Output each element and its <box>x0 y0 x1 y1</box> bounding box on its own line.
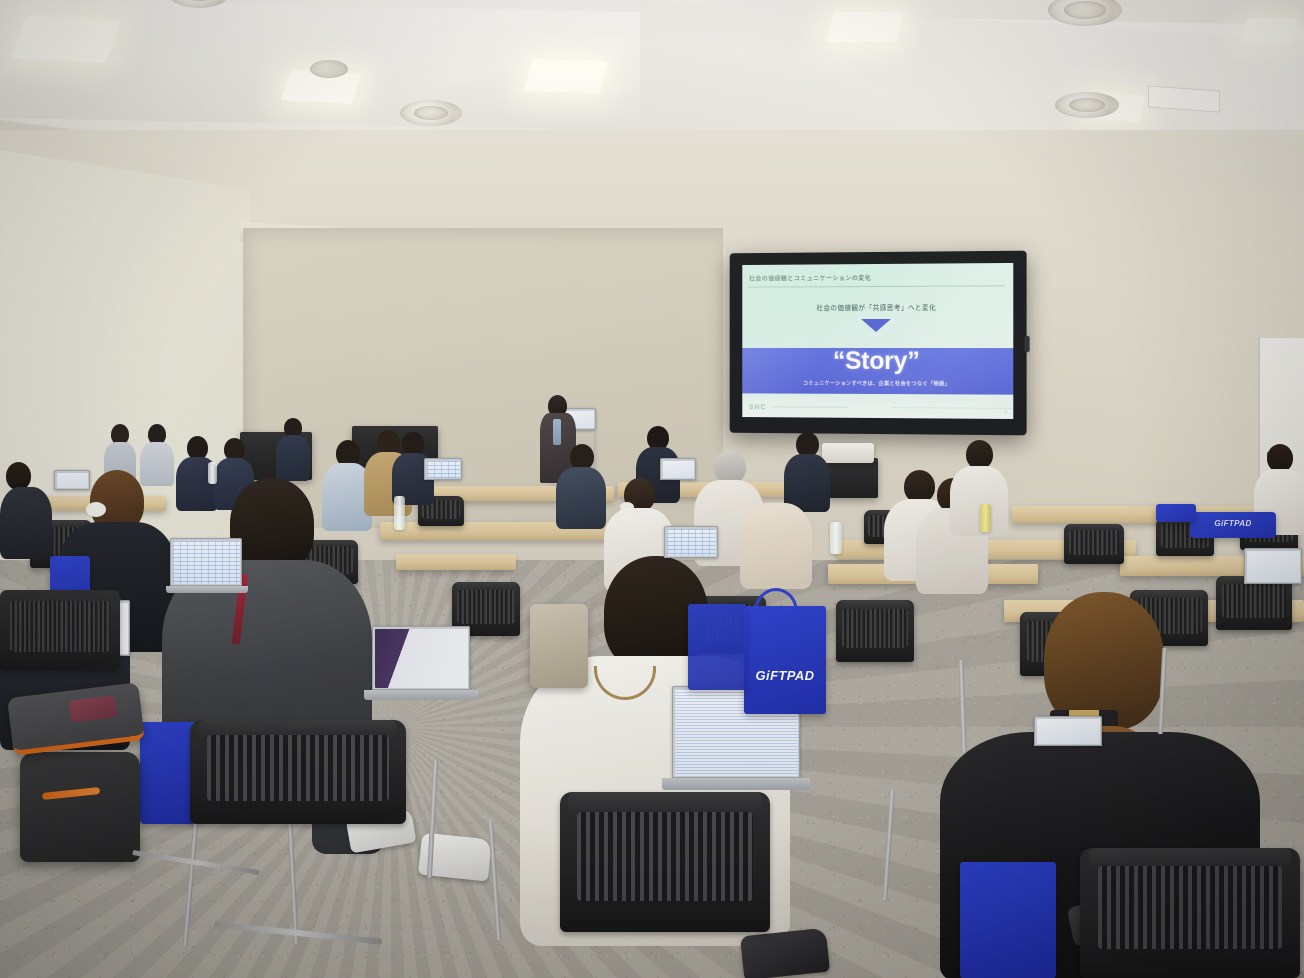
tote-bag[interactable]: GiFTPAD <box>744 606 826 714</box>
presentation-slide: 社会の価値観とコミュニケーションの変化 社会の価値観が「共感思考」へと変化 “S… <box>742 263 1013 419</box>
tote-bag[interactable]: GiFTPAD <box>1190 512 1276 538</box>
screen-display-area: 社会の価値観とコミュニケーションの変化 社会の価値観が「共感思考」へと変化 “S… <box>742 263 1013 419</box>
laptop-screen <box>1247 551 1300 582</box>
chair[interactable] <box>560 792 770 932</box>
chair-slats <box>842 609 908 649</box>
seminar-room-photo: 社会の価値観とコミュニケーションの変化 社会の価値観が「共感思考」へと変化 “S… <box>0 0 1304 978</box>
attendee-torso <box>556 467 606 529</box>
ceiling-light-panel <box>11 15 120 62</box>
chair-slats <box>1069 530 1119 556</box>
presenter-shirt <box>553 419 561 445</box>
attendee-head <box>966 440 993 469</box>
attendee-head <box>6 462 31 490</box>
screen-mount-nub <box>1025 336 1030 352</box>
chair[interactable] <box>836 600 914 662</box>
laptop-keyboard[interactable] <box>662 778 810 790</box>
slide-logo: SHC <box>749 404 766 411</box>
laptop-lid <box>660 458 696 480</box>
attendee-torso <box>276 435 310 481</box>
shoe <box>740 928 830 978</box>
table-row <box>396 554 516 570</box>
attendee <box>556 444 606 524</box>
ceiling-light-panel <box>1243 18 1297 42</box>
water-bottle[interactable] <box>394 496 405 530</box>
attendee-head <box>1267 444 1293 472</box>
handbag[interactable] <box>530 604 588 688</box>
ceiling-light-panel <box>826 12 903 42</box>
down-arrow-icon <box>861 319 891 332</box>
ceiling-air-vent <box>1055 92 1119 118</box>
attendee <box>950 440 1008 530</box>
slide-subtitle: 社会の価値観が「共感思考」へと変化 <box>742 301 1013 312</box>
ceiling-light-panel <box>524 59 608 94</box>
tote-bag[interactable] <box>688 604 746 690</box>
laptop-screen <box>667 529 716 556</box>
laptop-screen <box>173 541 240 584</box>
laptop-lid <box>664 526 718 558</box>
slide-page-number: 8 <box>1005 409 1007 414</box>
slide-caption: コミュニケーションすべきは、企業と社会をつなぐ「物語」 <box>742 380 1013 388</box>
hair-tie-icon <box>86 502 106 517</box>
water-bottle[interactable] <box>830 522 842 554</box>
slide-title: 社会の価値観とコミュニケーションの変化 <box>749 272 1003 283</box>
chair-slats <box>207 735 388 802</box>
laptop-screen <box>663 461 694 478</box>
laptop-keyboard[interactable] <box>166 586 248 593</box>
laptop-screen <box>427 461 460 478</box>
laptop-keyboard[interactable] <box>364 690 478 700</box>
attendee <box>276 418 310 478</box>
chair[interactable] <box>190 720 406 824</box>
attendee-head <box>761 472 793 507</box>
chair[interactable] <box>1064 524 1124 564</box>
slide-headline: “Story” <box>742 349 1013 374</box>
laptop-lid <box>54 470 90 490</box>
projection-screen[interactable]: 社会の価値観とコミュニケーションの変化 社会の価値観が「共感思考」へと変化 “S… <box>730 251 1027 436</box>
attendee-torso <box>950 466 1008 536</box>
chair-slats <box>10 601 111 652</box>
chair-slats <box>457 590 514 625</box>
laptop-lid <box>170 538 242 586</box>
tote-bag-label: GiFTPAD <box>1190 519 1276 528</box>
attendee <box>0 462 52 554</box>
laptop-lid <box>1244 548 1302 584</box>
tote-bag[interactable] <box>960 862 1056 978</box>
chair-slats <box>1098 866 1283 949</box>
attendee-torso <box>0 487 52 559</box>
backpack[interactable] <box>20 752 140 862</box>
attendee-head <box>230 478 314 572</box>
laptop-lid <box>372 626 470 690</box>
ceiling-air-vent <box>400 100 462 126</box>
slide-title-rule <box>748 285 1005 287</box>
laptop-screen <box>1037 719 1100 744</box>
laptop-screen <box>57 473 88 488</box>
laptop-lid <box>424 458 462 480</box>
laptop-lid <box>1034 716 1102 746</box>
ceiling-speaker-icon <box>310 60 348 78</box>
chair[interactable] <box>0 590 120 670</box>
chair-slats <box>577 812 753 902</box>
tote-bag[interactable] <box>1156 504 1196 522</box>
chair[interactable] <box>1080 848 1300 978</box>
laptop-screen <box>375 629 468 688</box>
water-bottle[interactable] <box>980 504 991 532</box>
water-bottle[interactable] <box>208 462 217 484</box>
tote-bag-label: GiFTPAD <box>744 668 826 683</box>
